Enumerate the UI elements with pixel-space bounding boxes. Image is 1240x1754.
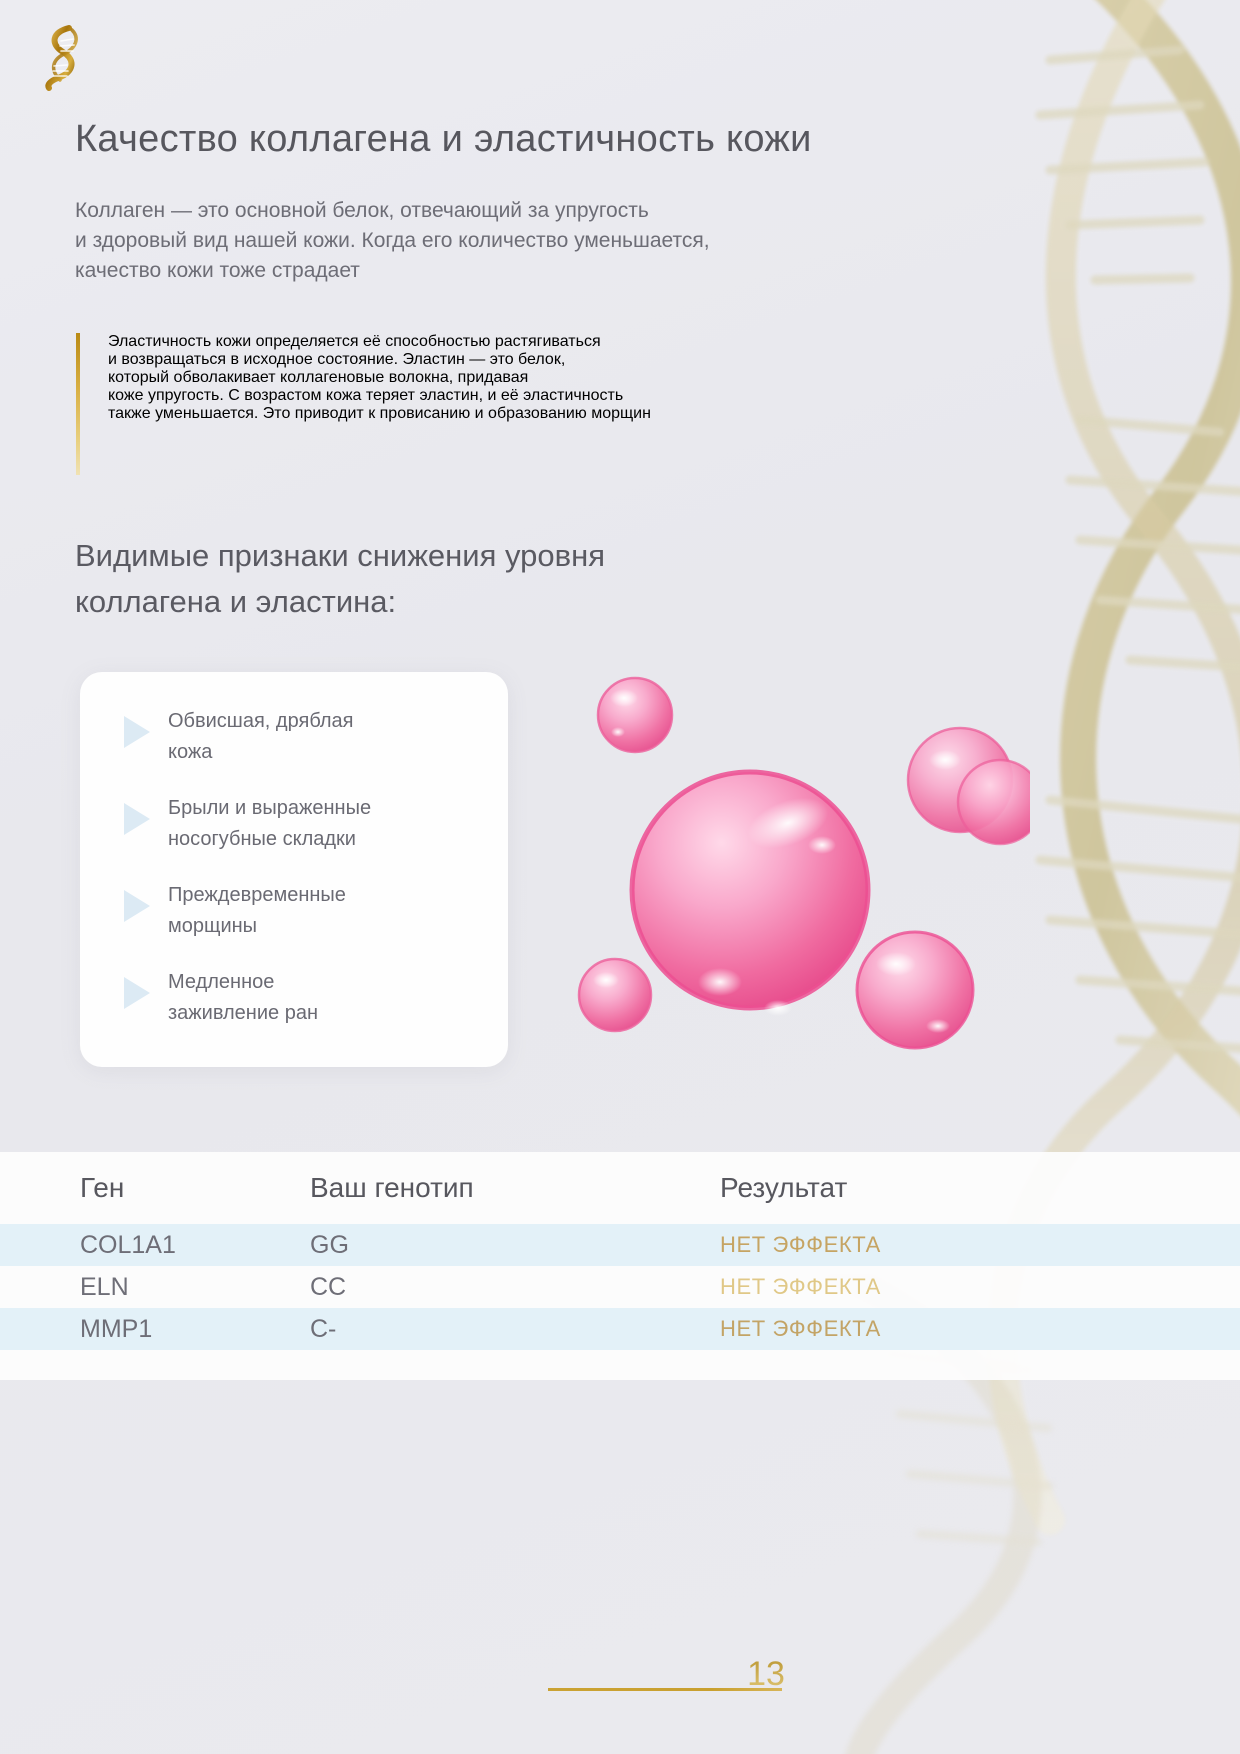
- list-item-line: Обвисшая, дряблая: [168, 706, 354, 737]
- cell-gene: COL1A1: [0, 1231, 310, 1260]
- column-header-result: Результат: [720, 1172, 1240, 1204]
- table-header-row: Ген Ваш генотип Результат: [0, 1152, 1240, 1224]
- table-row: MMP1 C- НЕТ ЭФФЕКТА: [0, 1308, 1240, 1350]
- list-item-line: заживление ран: [168, 998, 318, 1029]
- signs-list-card: Обвисшая, дряблая кожа Брыли и выраженны…: [80, 672, 508, 1067]
- list-item-line: Брыли и выраженные: [168, 793, 371, 824]
- list-item-label: Преждевременные морщины: [168, 876, 346, 942]
- list-item-line: кожа: [168, 737, 354, 768]
- list-item-line: носогубные складки: [168, 824, 371, 855]
- triangle-right-icon: [124, 716, 150, 748]
- list-item-label: Медленное заживление ран: [168, 963, 318, 1029]
- callout-line: коже упругость. С возрастом кожа теряет …: [108, 387, 956, 405]
- dna-helix-logo-icon: [36, 22, 90, 92]
- lead-line: качество кожи тоже страдает: [75, 256, 975, 286]
- cell-genotype: CC: [310, 1273, 720, 1302]
- cell-result: НЕТ ЭФФЕКТА: [720, 1316, 1240, 1342]
- section-heading-line: Видимые признаки снижения уровня: [75, 533, 895, 579]
- list-item: Преждевременные морщины: [102, 876, 486, 942]
- list-item-label: Брыли и выраженные носогубные складки: [168, 789, 371, 855]
- column-header-genotype: Ваш генотип: [310, 1172, 720, 1204]
- results-table: Ген Ваш генотип Результат COL1A1 GG НЕТ …: [0, 1152, 1240, 1350]
- cell-result: НЕТ ЭФФЕКТА: [720, 1232, 1240, 1258]
- triangle-right-icon: [124, 803, 150, 835]
- callout-line: и возвращаться в исходное состояние. Эла…: [108, 351, 956, 369]
- lead-paragraph: Коллаген — это основной белок, отвечающи…: [75, 196, 975, 286]
- page-title: Качество коллагена и эластичность кожи: [75, 118, 975, 161]
- bubbles-svg: [560, 660, 1030, 1090]
- callout-block: Эластичность кожи определяется её способ…: [76, 333, 956, 423]
- triangle-right-icon: [124, 977, 150, 1009]
- column-header-gene: Ген: [0, 1172, 310, 1204]
- callout-line: который обволакивает коллагеновые волокн…: [108, 369, 956, 387]
- lead-line: Коллаген — это основной белок, отвечающи…: [75, 196, 975, 226]
- list-item: Брыли и выраженные носогубные складки: [102, 789, 486, 855]
- list-item: Медленное заживление ран: [102, 963, 486, 1029]
- cell-result: НЕТ ЭФФЕКТА: [720, 1274, 1240, 1300]
- cell-genotype: GG: [310, 1231, 720, 1260]
- section-heading-line: коллагена и эластина:: [75, 579, 895, 625]
- table-row: COL1A1 GG НЕТ ЭФФЕКТА: [0, 1224, 1240, 1266]
- table-row: ELN CC НЕТ ЭФФЕКТА: [0, 1266, 1240, 1308]
- list-item: Обвисшая, дряблая кожа: [102, 702, 486, 768]
- callout-line: Эластичность кожи определяется её способ…: [108, 333, 956, 351]
- callout-line: также уменьшается. Это приводит к провис…: [108, 405, 956, 423]
- list-item-line: Преждевременные: [168, 880, 346, 911]
- page-number: 13: [736, 1655, 796, 1694]
- pink-bubbles-illustration: [560, 660, 1030, 1090]
- section-heading: Видимые признаки снижения уровня коллаге…: [75, 533, 895, 625]
- cell-gene: MMP1: [0, 1315, 310, 1344]
- list-item-label: Обвисшая, дряблая кожа: [168, 702, 354, 768]
- report-page: Качество коллагена и эластичность кожи К…: [0, 0, 1240, 1754]
- cell-gene: ELN: [0, 1273, 310, 1302]
- list-item-line: Медленное: [168, 967, 318, 998]
- triangle-right-icon: [124, 890, 150, 922]
- lead-line: и здоровый вид нашей кожи. Когда его кол…: [75, 226, 975, 256]
- cell-genotype: C-: [310, 1315, 720, 1344]
- list-item-line: морщины: [168, 911, 346, 942]
